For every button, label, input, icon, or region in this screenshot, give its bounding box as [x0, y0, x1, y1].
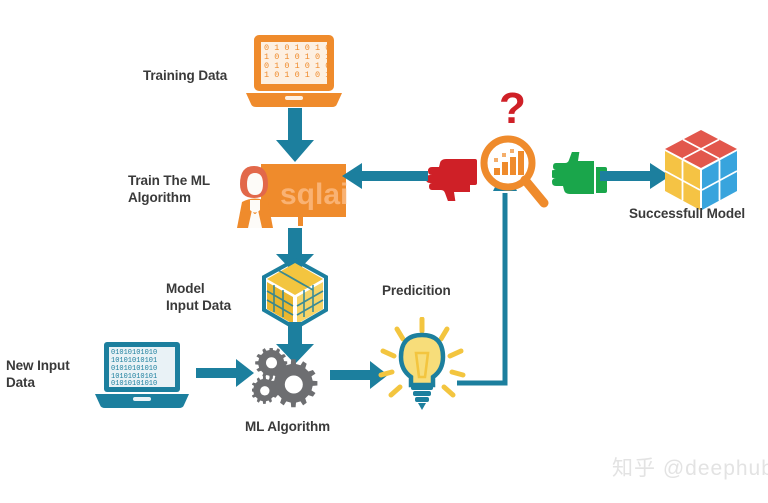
arrow-new-input-to-ml-algorithm-icon: [196, 358, 256, 388]
arrow-training-data-to-train-icon: [274, 108, 316, 164]
svg-text:sqlai: sqlai: [280, 178, 348, 211]
laptop-binary-orange-icon: 0 1 0 1 0 1 0 1 0 1 0 1 0 1 0 1 0 1 0 1 …: [244, 33, 344, 109]
svg-text:01010101010: 01010101010: [111, 349, 157, 357]
label-ml-algorithm: ML Algorithm: [245, 419, 330, 436]
person-presentation-board-icon: sqlai: [228, 162, 348, 232]
svg-text:01010101010: 01010101010: [111, 380, 157, 388]
label-successful-model: Successfull Model: [629, 206, 745, 223]
label-prediction: Predicition: [382, 283, 451, 300]
data-cube-yellow-icon: [261, 258, 329, 330]
laptop-binary-teal-icon: 01010101010 10101010101 01010101010 1010…: [92, 340, 192, 410]
svg-text:10101010101: 10101010101: [111, 357, 157, 365]
ml-workflow-diagram: Training Data 0 1 0 1 0 1 0 1 0 1 0 1 0 …: [0, 0, 768, 503]
magnifier-bar-chart-icon: [478, 133, 550, 211]
svg-text:1 0 1 0 1 0 1: 1 0 1 0 1 0 1: [264, 70, 330, 80]
watermark-deephub: 知乎 @deephub: [612, 452, 768, 482]
arrow-evaluation-reject-to-train-icon: [340, 162, 430, 190]
gears-icon: [252, 348, 326, 414]
label-training-data: Training Data: [143, 68, 227, 85]
rubiks-cube-icon: [661, 128, 741, 214]
label-new-input-data: New Input Data: [6, 358, 70, 392]
svg-text:01010101010: 01010101010: [111, 365, 157, 373]
label-train-the-ml-algorithm: Train The ML Algorithm: [128, 173, 210, 207]
thumbs-down-icon: [422, 155, 478, 201]
svg-text:?: ?: [499, 88, 526, 133]
label-model-input-data: Model Input Data: [166, 281, 231, 315]
question-mark-icon: ?: [495, 88, 535, 134]
